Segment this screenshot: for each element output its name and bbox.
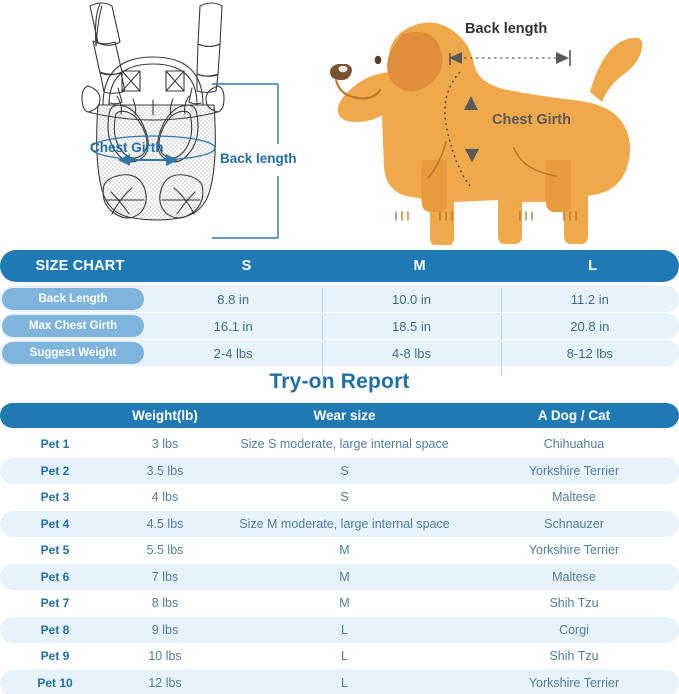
table-row: Pet 78 lbsMShih Tzu [0, 590, 679, 617]
back-length-s: 8.8 in [144, 292, 322, 307]
pet-breed: Shih Tzu [469, 596, 679, 610]
pet-breed: Maltese [469, 490, 679, 504]
dog-chest-girth-label: Chest Girth [492, 112, 571, 128]
suggest-weight-m: 4-8 lbs [322, 346, 500, 361]
wear-size: Size M moderate, large internal space [220, 517, 469, 531]
size-chart-row-back-length: Back Length 8.8 in 10.0 in 11.2 in [0, 286, 679, 312]
max-chest-girth-l: 20.8 in [501, 319, 679, 334]
pet-name: Pet 3 [0, 490, 110, 504]
wear-size: L [220, 649, 469, 663]
row-label-max-chest-girth: Max Chest Girth [2, 315, 144, 337]
back-length-l: 11.2 in [501, 292, 679, 307]
carrier-svg [60, 0, 328, 245]
table-row: Pet 67 lbsMMaltese [0, 564, 679, 591]
pet-weight: 5.5 lbs [110, 543, 220, 557]
table-row: Pet 23.5 lbsSYorkshire Terrier [0, 458, 679, 485]
pet-breed: Shih Tzu [469, 649, 679, 663]
pet-weight: 3.5 lbs [110, 464, 220, 478]
table-row: Pet 55.5 lbsMYorkshire Terrier [0, 537, 679, 564]
tryon-report-table: Weight(lb) Wear size A Dog / Cat Pet 13 … [0, 403, 679, 694]
pet-breed: Corgi [469, 623, 679, 637]
carrier-back-length-label: Back length [220, 151, 297, 166]
pet-name: Pet 2 [0, 464, 110, 478]
pet-weight: 12 lbs [110, 676, 220, 690]
pet-breed: Yorkshire Terrier [469, 543, 679, 557]
pet-weight: 10 lbs [110, 649, 220, 663]
wear-size: L [220, 676, 469, 690]
wear-size: Size S moderate, large internal space [220, 437, 469, 451]
wear-size: S [220, 464, 469, 478]
size-chart-title: SIZE CHART [0, 258, 160, 274]
size-chart-header-row: SIZE CHART S M L [0, 250, 679, 282]
table-row: Pet 44.5 lbsSize M moderate, large inter… [0, 511, 679, 538]
max-chest-girth-s: 16.1 in [144, 319, 322, 334]
size-column-l: L [506, 258, 679, 274]
table-row: Pet 13 lbsSize S moderate, large interna… [0, 431, 679, 458]
table-row: Pet 1012 lbsLYorkshire Terrier [0, 670, 679, 694]
size-column-s: S [160, 258, 333, 274]
pet-weight: 8 lbs [110, 596, 220, 610]
table-row: Pet 910 lbsLShih Tzu [0, 643, 679, 670]
size-chart-table: SIZE CHART S M L Back Length 8.8 in 10.0… [0, 250, 679, 345]
carrier-chest-girth-label: Chest Girth [90, 140, 164, 155]
pet-breed: Yorkshire Terrier [469, 676, 679, 690]
pet-name: Pet 5 [0, 543, 110, 557]
pet-name: Pet 8 [0, 623, 110, 637]
pet-weight: 4.5 lbs [110, 517, 220, 531]
illustration-band: Chest Girth Back length [0, 0, 679, 245]
dog-illustration: Back length Chest Girth [318, 0, 679, 245]
pet-weight: 3 lbs [110, 437, 220, 451]
tryon-report-title: Try-on Report [0, 370, 679, 394]
size-column-m: M [333, 258, 506, 274]
pet-breed: Yorkshire Terrier [469, 464, 679, 478]
wear-size: S [220, 490, 469, 504]
pet-name: Pet 1 [0, 437, 110, 451]
pet-weight: 7 lbs [110, 570, 220, 584]
pet-weight: 9 lbs [110, 623, 220, 637]
table-row: Pet 89 lbsLCorgi [0, 617, 679, 644]
pet-breed: Chihuahua [469, 437, 679, 451]
pet-breed: Maltese [469, 570, 679, 584]
size-chart-row-max-chest-girth: Max Chest Girth 16.1 in 18.5 in 20.8 in [0, 313, 679, 339]
suggest-weight-s: 2-4 lbs [144, 346, 322, 361]
pet-breed: Schnauzer [469, 517, 679, 531]
tryon-col-weight: Weight(lb) [110, 408, 220, 423]
wear-size: L [220, 623, 469, 637]
size-guide-page: Chest Girth Back length [0, 0, 679, 694]
back-length-m: 10.0 in [322, 292, 500, 307]
wear-size: M [220, 596, 469, 610]
pet-name: Pet 6 [0, 570, 110, 584]
table-row: Pet 34 lbsSMaltese [0, 484, 679, 511]
pet-name: Pet 10 [0, 676, 110, 690]
wear-size: M [220, 543, 469, 557]
row-label-back-length: Back Length [2, 288, 144, 310]
pet-name: Pet 9 [0, 649, 110, 663]
size-chart-row-suggest-weight: Suggest Weight 2-4 lbs 4-8 lbs 8-12 lbs [0, 340, 679, 366]
tryon-col-wear: Wear size [220, 408, 469, 423]
pet-weight: 4 lbs [110, 490, 220, 504]
backlength-arrow-right [556, 52, 569, 64]
pet-name: Pet 4 [0, 517, 110, 531]
max-chest-girth-m: 18.5 in [322, 319, 500, 334]
pet-name: Pet 7 [0, 596, 110, 610]
suggest-weight-l: 8-12 lbs [501, 346, 679, 361]
row-label-suggest-weight: Suggest Weight [2, 342, 144, 364]
dog-back-length-label: Back length [465, 21, 547, 37]
wear-size: M [220, 570, 469, 584]
carrier-illustration: Chest Girth Back length [60, 0, 328, 245]
tryon-header-row: Weight(lb) Wear size A Dog / Cat [0, 403, 679, 428]
tryon-col-breed: A Dog / Cat [469, 408, 679, 423]
